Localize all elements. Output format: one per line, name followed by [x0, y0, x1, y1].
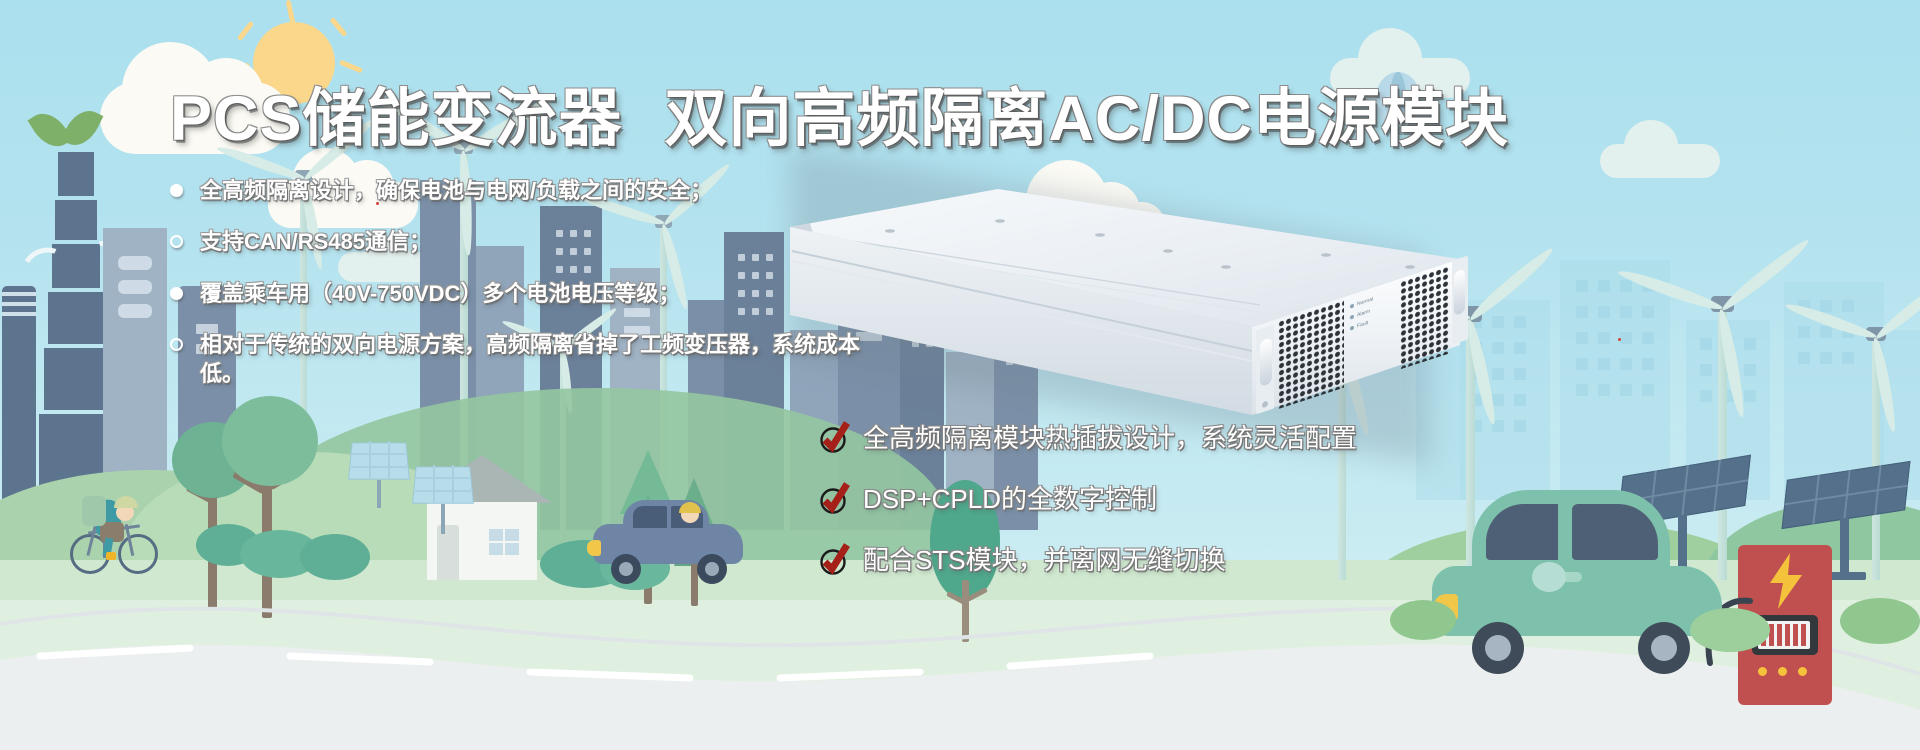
led-label: Fault	[1357, 320, 1368, 330]
list-item: DSP+CPLD的全数字控制	[818, 479, 1458, 516]
bullet-circle-icon	[170, 338, 183, 351]
page-title: PCS储能变流器双向高频隔离AC/DC电源模块	[170, 68, 1509, 159]
led-label: Alarm	[1357, 308, 1370, 318]
ventilation-grille	[1278, 300, 1344, 409]
list-item: 覆盖乘车用（40V-750VDC）多个电池电压等级；	[170, 279, 890, 308]
list-item: 相对于传统的双向电源方案，高频隔离省掉了工频变压器，系统成本低。	[170, 330, 870, 389]
ventilation-grille	[1400, 265, 1450, 369]
led-label: Normal	[1357, 296, 1373, 307]
feature-bullet-text: 覆盖乘车用（40V-750VDC）多个电池电压等级；	[200, 279, 680, 308]
check-bullet-text: DSP+CPLD的全数字控制	[863, 479, 1157, 516]
list-item: 全高频隔离设计，确保电池与电网/负载之间的安全；	[170, 176, 890, 205]
bullet-circle-icon	[170, 287, 183, 300]
list-item: 配合STS模块，并离网无缝切换	[818, 540, 1458, 577]
bullet-circle-icon	[170, 235, 183, 248]
title-part-2: 双向高频隔离AC/DC电源模块	[665, 84, 1510, 154]
title-part-1: PCS储能变流器	[170, 84, 623, 154]
feature-bullet-text: 全高频隔离设计，确保电池与电网/负载之间的安全；	[200, 176, 712, 205]
list-item: 全高频隔离模块热插拔设计，系统灵活配置	[818, 418, 1458, 455]
bullet-circle-icon	[170, 184, 183, 197]
feature-bullet-text: 支持CAN/RS485通信；	[200, 227, 431, 256]
list-item: 支持CAN/RS485通信；	[170, 227, 890, 256]
led-indicator-panel: Normal Alarm Fault	[1350, 289, 1396, 344]
check-circle-icon	[818, 542, 852, 576]
check-bullet-text: 配合STS模块，并离网无缝切换	[863, 540, 1226, 577]
check-circle-icon	[818, 481, 852, 515]
feature-bullet-list: 全高频隔离设计，确保电池与电网/负载之间的安全； 支持CAN/RS485通信； …	[170, 176, 890, 410]
feature-bullet-text: 相对于传统的双向电源方案，高频隔离省掉了工频变压器，系统成本低。	[200, 330, 870, 389]
check-bullet-text: 全高频隔离模块热插拔设计，系统灵活配置	[863, 418, 1357, 455]
check-circle-icon	[818, 420, 852, 454]
product-banner: Normal Alarm Fault PCS储能变流器双向高频隔离AC/	[0, 0, 1920, 750]
check-bullet-list: 全高频隔离模块热插拔设计，系统灵活配置 DSP+CPLD的全数字控制 配合STS…	[818, 418, 1458, 601]
